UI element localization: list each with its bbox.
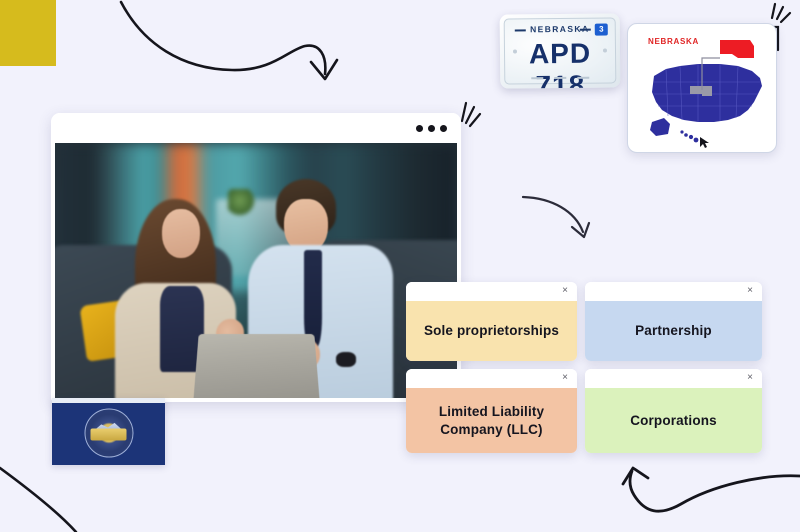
browser-content-photo (55, 143, 457, 398)
card-body: Limited Liability Company (LLC) (406, 388, 577, 453)
card-title-bar: × (406, 369, 577, 388)
card-title-bar: × (585, 282, 762, 301)
card-label: Limited Liability Company (LLC) (416, 403, 567, 438)
curved-arrow-top (121, 2, 337, 79)
license-plate: NEBRASKA 3 APD 718 (500, 13, 621, 88)
nebraska-state-flag (52, 398, 165, 465)
curved-arrow-middle (523, 197, 589, 237)
card-body: Partnership (585, 301, 762, 361)
card-label: Corporations (630, 412, 717, 429)
plate-registration-sticker: 3 (595, 23, 608, 35)
state-seal-icon (84, 408, 133, 457)
browser-mockup[interactable] (51, 113, 461, 402)
plate-bolt-left (513, 49, 517, 53)
card-label: Partnership (635, 322, 712, 339)
sparkle-lines (462, 103, 480, 126)
close-icon[interactable]: × (559, 285, 571, 297)
cursor-icon (700, 137, 709, 148)
card-title-bar: × (585, 369, 762, 388)
browser-title-bar (51, 113, 461, 143)
close-icon[interactable]: × (744, 372, 756, 384)
browser-menu-dots-icon[interactable] (416, 125, 447, 132)
entity-card-corporations[interactable]: × Corporations (585, 369, 762, 453)
card-body: Sole proprietorships (406, 301, 577, 361)
accent-square-top-left (0, 0, 56, 66)
card-body: Corporations (585, 388, 762, 453)
close-icon[interactable]: × (744, 285, 756, 297)
us-map-card: NEBRASKA (627, 23, 777, 153)
curved-arrow-bottom (623, 468, 800, 511)
plate-number: APD 718 (505, 37, 616, 88)
entity-card-limited-liability-company[interactable]: × Limited Liability Company (LLC) (406, 369, 577, 453)
plate-bolt-right (603, 49, 607, 53)
card-label: Sole proprietorships (424, 322, 559, 339)
corner-arc-bottom-left (0, 468, 76, 532)
card-title-bar: × (406, 282, 577, 301)
map-state-label: NEBRASKA (648, 37, 699, 46)
license-plate-face: NEBRASKA 3 APD 718 (504, 17, 617, 84)
close-icon[interactable]: × (559, 372, 571, 384)
page-canvas: NEBRASKA 3 APD 718 NEBRASKA (0, 0, 800, 532)
entity-card-sole-proprietorships[interactable]: × Sole proprietorships (406, 282, 577, 361)
entity-card-partnership[interactable]: × Partnership (585, 282, 762, 361)
